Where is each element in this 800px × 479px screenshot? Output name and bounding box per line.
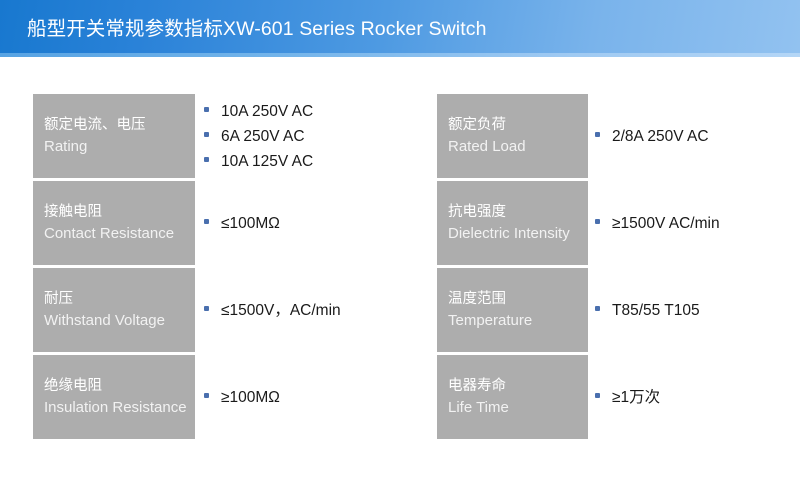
spec-label-cn: 温度范围 — [448, 288, 588, 310]
spec-value-text: ≤100MΩ — [221, 211, 280, 236]
spec-label-cell: 抗电强度 Dielectric Intensity — [437, 181, 588, 265]
spec-row: 额定负荷 Rated Load 2/8A 250V AC — [437, 94, 787, 178]
spec-value-item: 10A 250V AC — [204, 99, 429, 124]
spec-label-cell: 接触电阻 Contact Resistance — [33, 181, 195, 265]
spec-label-cell: 绝缘电阻 Insulation Resistance — [33, 355, 195, 439]
bullet-icon — [204, 107, 209, 112]
spec-label-cell: 温度范围 Temperature — [437, 268, 588, 352]
spec-label-en: Withstand Voltage — [44, 310, 195, 332]
bullet-icon — [204, 132, 209, 137]
spec-label-cn: 绝缘电阻 — [44, 375, 195, 397]
spec-row: 温度范围 Temperature T85/55 T105 — [437, 268, 787, 352]
spec-value-item: 6A 250V AC — [204, 124, 429, 149]
spec-row: 电器寿命 Life Time ≥1万次 — [437, 355, 787, 439]
spec-column-right: 额定负荷 Rated Load 2/8A 250V AC 抗电强度 Dielec… — [437, 94, 787, 441]
spec-label-en: Rating — [44, 136, 195, 158]
spec-value-text: ≥1500V AC/min — [612, 211, 720, 236]
spec-value-item: ≥100MΩ — [204, 385, 429, 410]
spec-label-cell: 电器寿命 Life Time — [437, 355, 588, 439]
spec-value-cell: ≤100MΩ — [204, 181, 429, 265]
spec-value-cell: ≥1500V AC/min — [595, 181, 790, 265]
spec-value-text: ≤1500V，AC/min — [221, 298, 341, 323]
spec-value-cell: ≥100MΩ — [204, 355, 429, 439]
bullet-icon — [595, 393, 600, 398]
bullet-icon — [595, 219, 600, 224]
header-underline-divider — [0, 53, 800, 57]
spec-value-item: 10A 125V AC — [204, 149, 429, 174]
spec-label-cn: 电器寿命 — [448, 375, 588, 397]
spec-value-item: ≥1万次 — [595, 385, 790, 410]
spec-value-item: ≤1500V，AC/min — [204, 298, 429, 323]
bullet-icon — [595, 306, 600, 311]
spec-value-cell: 2/8A 250V AC — [595, 94, 790, 178]
bullet-icon — [204, 157, 209, 162]
spec-label-cell: 额定电流、电压 Rating — [33, 94, 195, 178]
spec-label-cn: 耐压 — [44, 288, 195, 310]
spec-value-item: T85/55 T105 — [595, 298, 790, 323]
spec-value-text: 6A 250V AC — [221, 124, 305, 149]
spec-value-cell: ≥1万次 — [595, 355, 790, 439]
spec-value-item: ≥1500V AC/min — [595, 211, 790, 236]
spec-label-en: Rated Load — [448, 136, 588, 158]
spec-value-text: 10A 125V AC — [221, 149, 313, 174]
spec-label-en: Temperature — [448, 310, 588, 332]
spec-value-text: T85/55 T105 — [612, 298, 700, 323]
spec-row: 耐压 Withstand Voltage ≤1500V，AC/min — [33, 268, 433, 352]
spec-value-cell: T85/55 T105 — [595, 268, 790, 352]
spec-label-cn: 抗电强度 — [448, 201, 588, 223]
spec-row: 抗电强度 Dielectric Intensity ≥1500V AC/min — [437, 181, 787, 265]
bullet-icon — [204, 306, 209, 311]
specification-table: 额定电流、电压 Rating 10A 250V AC 6A 250V AC 10… — [0, 94, 800, 441]
spec-row: 额定电流、电压 Rating 10A 250V AC 6A 250V AC 10… — [33, 94, 433, 178]
bullet-icon — [204, 393, 209, 398]
spec-value-item: ≤100MΩ — [204, 211, 429, 236]
spec-label-en: Contact Resistance — [44, 223, 195, 245]
spec-label-cn: 额定电流、电压 — [44, 114, 195, 136]
bullet-icon — [204, 219, 209, 224]
spec-label-en: Dielectric Intensity — [448, 223, 588, 245]
spec-label-en: Insulation Resistance — [44, 397, 195, 419]
bullet-icon — [595, 132, 600, 137]
spec-value-text: 10A 250V AC — [221, 99, 313, 124]
spec-value-text: 2/8A 250V AC — [612, 124, 709, 149]
spec-label-cn: 额定负荷 — [448, 114, 588, 136]
spec-column-left: 额定电流、电压 Rating 10A 250V AC 6A 250V AC 10… — [33, 94, 433, 441]
spec-label-cn: 接触电阻 — [44, 201, 195, 223]
header-banner: 船型开关常规参数指标XW-601 Series Rocker Switch — [0, 0, 800, 53]
spec-value-cell: 10A 250V AC 6A 250V AC 10A 125V AC — [204, 94, 429, 178]
page-title: 船型开关常规参数指标XW-601 Series Rocker Switch — [27, 17, 487, 41]
spec-value-text: ≥1万次 — [612, 385, 660, 410]
spec-label-cell: 耐压 Withstand Voltage — [33, 268, 195, 352]
spec-row: 绝缘电阻 Insulation Resistance ≥100MΩ — [33, 355, 433, 439]
spec-value-cell: ≤1500V，AC/min — [204, 268, 429, 352]
spec-label-en: Life Time — [448, 397, 588, 419]
spec-label-cell: 额定负荷 Rated Load — [437, 94, 588, 178]
spec-value-item: 2/8A 250V AC — [595, 124, 790, 149]
spec-value-text: ≥100MΩ — [221, 385, 280, 410]
spec-row: 接触电阻 Contact Resistance ≤100MΩ — [33, 181, 433, 265]
